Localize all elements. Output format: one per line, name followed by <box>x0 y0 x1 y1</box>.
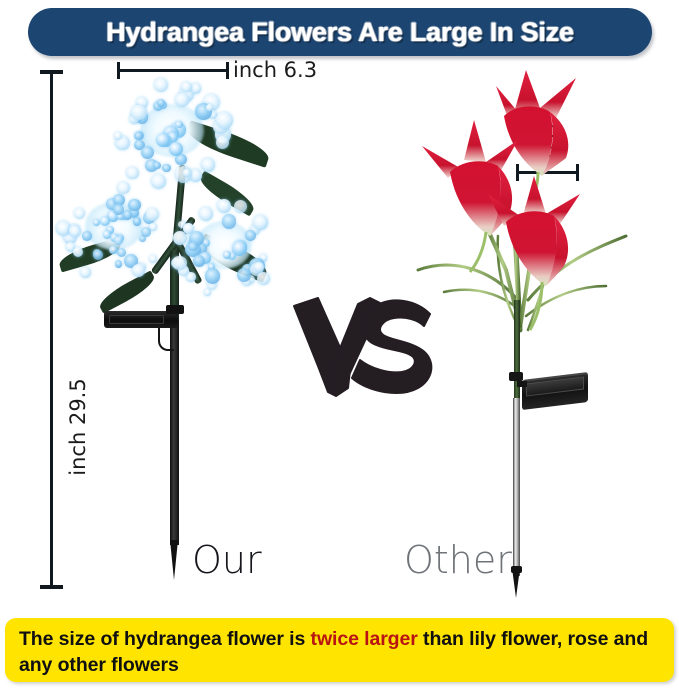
hydrangea-floret <box>154 78 168 92</box>
solar-panel-clip-right <box>509 372 523 381</box>
footer-text-before: The size of hydrangea flower is <box>19 628 311 650</box>
hydrangea-floret <box>222 214 237 229</box>
hydrangea-floret <box>237 268 251 282</box>
hydrangea-floret <box>188 242 198 252</box>
hydrangea-floret <box>141 227 151 237</box>
hydrangea-bloom <box>56 178 172 286</box>
hydrangea-floret <box>206 104 213 111</box>
hydrangea-floret <box>234 200 247 213</box>
hydrangea-floret <box>146 208 159 221</box>
stake-pole-right <box>513 398 520 576</box>
solar-panel-cell <box>109 315 164 324</box>
hydrangea-floret <box>149 255 157 263</box>
hydrangea-floret <box>103 230 111 238</box>
hydrangea-floret <box>141 146 154 159</box>
hydrangea-floret <box>74 208 85 219</box>
stake-tip-left <box>170 540 178 580</box>
hydrangea-floret <box>115 260 122 267</box>
hydrangea-floret <box>69 226 81 238</box>
hydrangea-floret <box>80 267 91 278</box>
hydrangea-floret <box>216 136 229 149</box>
hydrangea-floret <box>172 256 187 271</box>
stake-tip-right <box>512 568 520 598</box>
hydrangea-floret <box>175 93 189 107</box>
hydrangea-floret <box>134 132 143 141</box>
solar-panel-arm-right <box>517 381 527 387</box>
product-label-other: Other <box>404 538 512 582</box>
hydrangea-floret <box>128 199 140 211</box>
lily-plant-graphic <box>400 0 679 600</box>
hydrangea-floret <box>132 264 145 277</box>
product-label-our: Our <box>192 538 262 582</box>
hydrangea-floret <box>253 215 268 230</box>
product-right-lily-stake <box>400 0 679 600</box>
hydrangea-floret <box>162 164 171 173</box>
hydrangea-floret <box>205 268 221 284</box>
lily-bloom <box>422 120 518 272</box>
hydrangea-floret <box>245 230 256 241</box>
hydrangea-floret <box>117 182 129 194</box>
hydrangea-floret <box>123 210 133 220</box>
solar-panel-bracket-left <box>166 305 184 314</box>
hydrangea-floret <box>193 255 205 267</box>
hydrangea-floret <box>204 289 212 297</box>
hydrangea-floret <box>201 158 215 172</box>
hydrangea-floret <box>156 133 170 147</box>
hydrangea-floret <box>73 247 84 258</box>
stake-pole-left <box>170 320 179 545</box>
product-left-hydrangea-stake <box>0 0 300 600</box>
hydrangea-floret <box>223 251 231 259</box>
solar-panel-wire-left <box>158 327 174 351</box>
hydrangea-floret <box>199 207 213 221</box>
hydrangea-floret <box>114 236 123 245</box>
hydrangea-bloom <box>168 198 280 304</box>
hydrangea-floret <box>153 162 161 170</box>
footer-caption: The size of hydrangea flower is twice la… <box>19 626 660 678</box>
hydrangea-floret <box>157 99 165 107</box>
hydrangea-floret <box>257 272 270 285</box>
hydrangea-floret <box>93 250 103 260</box>
hydrangea-floret <box>217 199 231 213</box>
hydrangea-floret <box>216 112 233 129</box>
hydrangea-floret <box>133 217 142 226</box>
hydrangea-floret <box>82 231 92 241</box>
footer-banner: The size of hydrangea flower is twice la… <box>5 618 674 682</box>
footer-highlight: twice larger <box>311 628 418 650</box>
hydrangea-floret <box>183 169 190 176</box>
hydrangea-floret <box>181 82 192 93</box>
solar-panel-cell <box>526 376 584 396</box>
hydrangea-floret <box>191 83 202 94</box>
hydrangea-floret <box>131 105 147 121</box>
